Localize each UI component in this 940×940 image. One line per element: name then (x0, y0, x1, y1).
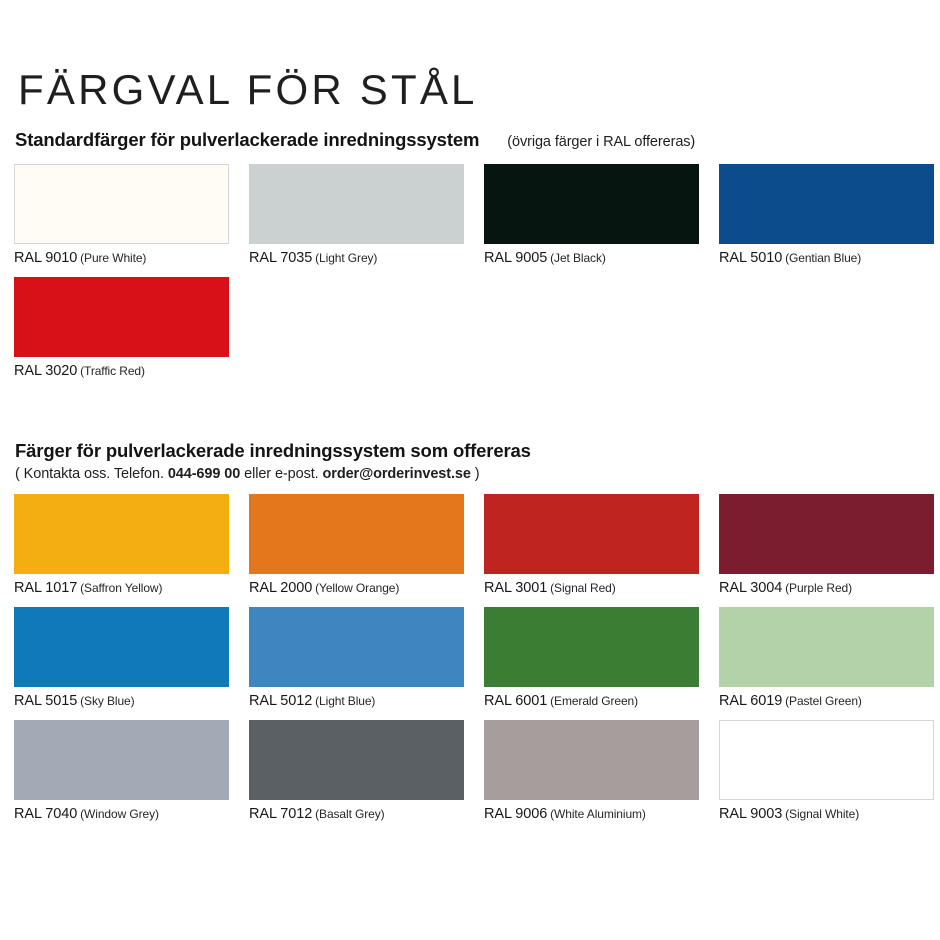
section-note-standard: (övriga färger i RAL offereras) (507, 134, 695, 150)
swatch-label: RAL 5012(Light Blue) (249, 693, 464, 709)
swatch-cell[interactable]: RAL 1017(Saffron Yellow) (14, 494, 229, 596)
color-swatch[interactable] (14, 720, 229, 800)
swatch-code: RAL 2000 (249, 580, 312, 596)
swatch-code: RAL 3020 (14, 363, 77, 379)
swatch-label: RAL 5010(Gentian Blue) (719, 250, 934, 266)
swatch-color-name: (Yellow Orange) (315, 581, 399, 595)
swatch-code: RAL 5012 (249, 693, 312, 709)
swatch-color-name: (Light Blue) (315, 694, 375, 708)
color-swatch[interactable] (14, 494, 229, 574)
swatch-color-name: (Light Grey) (315, 251, 377, 265)
swatch-code: RAL 9005 (484, 250, 547, 266)
section-title-offered: Färger för pulverlackerade inredningssys… (15, 439, 531, 463)
swatch-color-name: (Emerald Green) (550, 694, 638, 708)
color-swatch[interactable] (719, 720, 934, 800)
color-swatch[interactable] (14, 607, 229, 687)
page-title: FÄRGVAL FÖR STÅL (18, 69, 478, 111)
swatch-label: RAL 3001(Signal Red) (484, 580, 699, 596)
color-swatch[interactable] (249, 607, 464, 687)
swatch-row: RAL 7040(Window Grey)RAL 7012(Basalt Gre… (14, 720, 928, 822)
swatch-label: RAL 6019(Pastel Green) (719, 693, 934, 709)
swatch-code: RAL 1017 (14, 580, 77, 596)
swatch-color-name: (Pure White) (80, 251, 146, 265)
swatch-code: RAL 7012 (249, 806, 312, 822)
swatch-code: RAL 6001 (484, 693, 547, 709)
swatch-label: RAL 5015(Sky Blue) (14, 693, 229, 709)
swatch-row: RAL 3020(Traffic Red) (14, 277, 928, 379)
swatch-color-name: (Signal Red) (550, 581, 616, 595)
contact-open-paren: ( (15, 466, 24, 482)
swatch-code: RAL 9006 (484, 806, 547, 822)
swatch-code: RAL 7040 (14, 806, 77, 822)
swatch-cell[interactable]: RAL 6019(Pastel Green) (719, 607, 934, 709)
swatch-code: RAL 9010 (14, 250, 77, 266)
color-swatch[interactable] (484, 164, 699, 244)
color-swatch[interactable] (719, 164, 934, 244)
swatch-cell[interactable]: RAL 7035(Light Grey) (249, 164, 464, 266)
swatch-cell[interactable]: RAL 7040(Window Grey) (14, 720, 229, 822)
color-swatch[interactable] (249, 720, 464, 800)
swatch-label: RAL 7040(Window Grey) (14, 806, 229, 822)
contact-phone[interactable]: 044-699 00 (168, 466, 240, 482)
swatch-label: RAL 1017(Saffron Yellow) (14, 580, 229, 596)
swatch-code: RAL 6019 (719, 693, 782, 709)
swatch-cell[interactable]: RAL 3001(Signal Red) (484, 494, 699, 596)
section-heading-offered: Färger för pulverlackerade inredningssys… (15, 439, 531, 485)
swatch-label: RAL 9006(White Aluminium) (484, 806, 699, 822)
swatch-label: RAL 3004(Purple Red) (719, 580, 934, 596)
swatch-cell[interactable]: RAL 7012(Basalt Grey) (249, 720, 464, 822)
swatch-code: RAL 3001 (484, 580, 547, 596)
color-swatch[interactable] (719, 494, 934, 574)
swatch-label: RAL 2000(Yellow Orange) (249, 580, 464, 596)
swatch-color-name: (Signal White) (785, 807, 859, 821)
contact-text-1: Kontakta oss. Telefon. (24, 466, 168, 482)
swatch-color-name: (Purple Red) (785, 581, 852, 595)
color-chart-page: FÄRGVAL FÖR STÅL Standardfärger för pulv… (0, 0, 940, 940)
swatch-color-name: (Basalt Grey) (315, 807, 384, 821)
swatch-label: RAL 9010(Pure White) (14, 250, 229, 266)
swatch-code: RAL 3004 (719, 580, 782, 596)
swatch-cell[interactable]: RAL 9005(Jet Black) (484, 164, 699, 266)
section-heading-standard: Standardfärger för pulverlackerade inred… (15, 129, 695, 151)
swatch-cell[interactable]: RAL 6001(Emerald Green) (484, 607, 699, 709)
swatch-cell[interactable]: RAL 2000(Yellow Orange) (249, 494, 464, 596)
color-swatch[interactable] (484, 607, 699, 687)
swatch-row: RAL 1017(Saffron Yellow)RAL 2000(Yellow … (14, 494, 928, 596)
swatch-code: RAL 5010 (719, 250, 782, 266)
swatch-label: RAL 7035(Light Grey) (249, 250, 464, 266)
swatch-code: RAL 9003 (719, 806, 782, 822)
swatch-color-name: (Traffic Red) (80, 364, 145, 378)
swatch-color-name: (White Aluminium) (550, 807, 646, 821)
swatch-grid-offered: RAL 1017(Saffron Yellow)RAL 2000(Yellow … (14, 494, 928, 833)
swatch-code: RAL 7035 (249, 250, 312, 266)
swatch-cell[interactable]: RAL 9010(Pure White) (14, 164, 229, 266)
swatch-cell[interactable]: RAL 3004(Purple Red) (719, 494, 934, 596)
swatch-cell[interactable]: RAL 9003(Signal White) (719, 720, 934, 822)
swatch-row: RAL 9010(Pure White)RAL 7035(Light Grey)… (14, 164, 928, 266)
color-swatch[interactable] (719, 607, 934, 687)
contact-text-2: eller e-post. (240, 466, 322, 482)
section-title-standard: Standardfärger för pulverlackerade inred… (15, 129, 479, 151)
color-swatch[interactable] (14, 164, 229, 244)
swatch-label: RAL 9003(Signal White) (719, 806, 934, 822)
color-swatch[interactable] (14, 277, 229, 357)
swatch-cell[interactable]: RAL 5010(Gentian Blue) (719, 164, 934, 266)
color-swatch[interactable] (249, 164, 464, 244)
swatch-color-name: (Sky Blue) (80, 694, 134, 708)
swatch-cell[interactable]: RAL 3020(Traffic Red) (14, 277, 229, 379)
swatch-cell[interactable]: RAL 9006(White Aluminium) (484, 720, 699, 822)
swatch-color-name: (Jet Black) (550, 251, 606, 265)
swatch-cell[interactable]: RAL 5012(Light Blue) (249, 607, 464, 709)
swatch-color-name: (Gentian Blue) (785, 251, 861, 265)
contact-email[interactable]: order@orderinvest.se (323, 466, 471, 482)
swatch-grid-standard: RAL 9010(Pure White)RAL 7035(Light Grey)… (14, 164, 928, 390)
swatch-label: RAL 7012(Basalt Grey) (249, 806, 464, 822)
swatch-code: RAL 5015 (14, 693, 77, 709)
swatch-color-name: (Saffron Yellow) (80, 581, 162, 595)
contact-line: ( Kontakta oss. Telefon. 044-699 00 elle… (15, 464, 531, 485)
swatch-row: RAL 5015(Sky Blue)RAL 5012(Light Blue)RA… (14, 607, 928, 709)
swatch-label: RAL 3020(Traffic Red) (14, 363, 229, 379)
swatch-color-name: (Pastel Green) (785, 694, 862, 708)
swatch-cell[interactable]: RAL 5015(Sky Blue) (14, 607, 229, 709)
color-swatch[interactable] (484, 720, 699, 800)
swatch-label: RAL 9005(Jet Black) (484, 250, 699, 266)
color-swatch[interactable] (484, 494, 699, 574)
swatch-color-name: (Window Grey) (80, 807, 159, 821)
swatch-label: RAL 6001(Emerald Green) (484, 693, 699, 709)
contact-close-paren: ) (471, 466, 480, 482)
color-swatch[interactable] (249, 494, 464, 574)
